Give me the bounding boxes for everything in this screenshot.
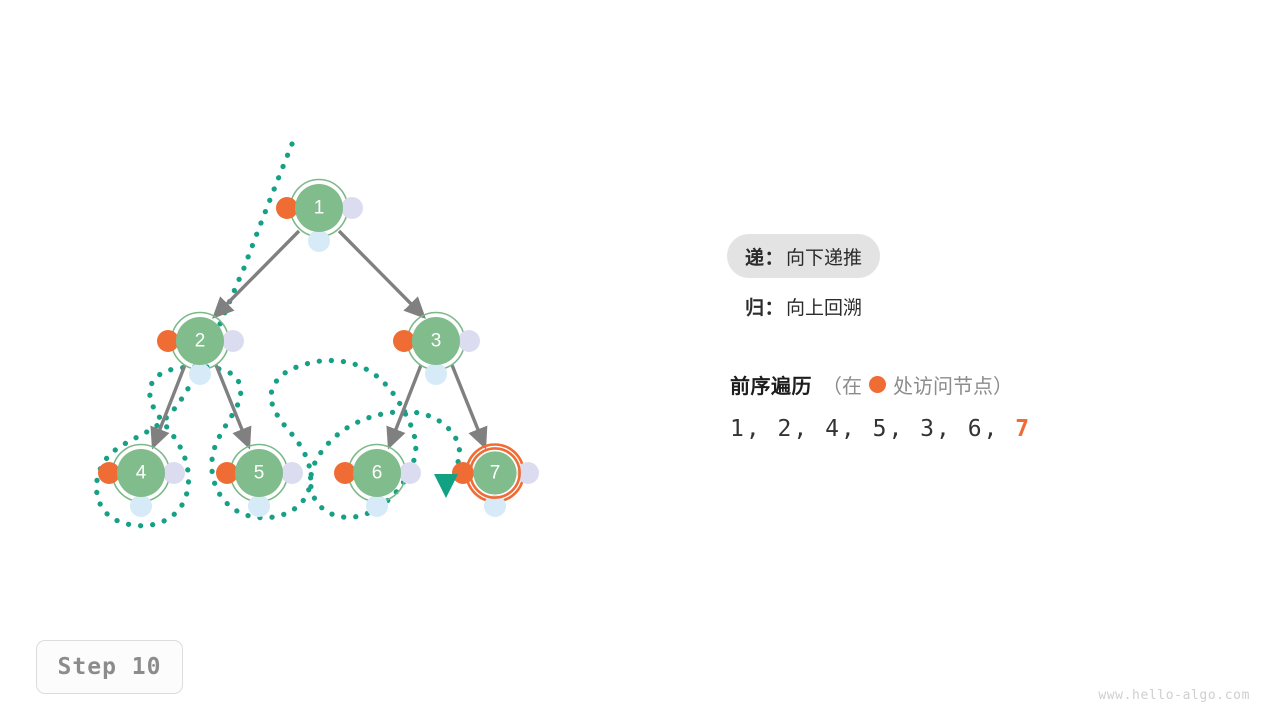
legend-recurse-label: 递：	[745, 243, 784, 270]
tree-node-4[interactable]: 4	[98, 445, 185, 518]
tree-node-3[interactable]: 3	[393, 313, 480, 386]
node-3-right-dot	[458, 330, 480, 352]
node-1-label: 1	[314, 198, 325, 219]
traversal-sequence: 1, 2, 4, 5, 3, 6, 7	[730, 416, 1227, 442]
node-6-right-dot	[399, 462, 421, 484]
edge-n3-n6	[389, 365, 421, 447]
tree-node-6[interactable]: 6	[334, 445, 421, 518]
step-badge: Step 10	[36, 640, 183, 694]
node-5-bottom-dot	[248, 495, 270, 517]
node-6-bottom-dot	[366, 495, 388, 517]
traversal-block: 前序遍历 （在 处访问节点） 1, 2, 4, 5, 3, 6, 7	[727, 370, 1227, 442]
node-4-visit-dot	[98, 462, 120, 484]
binary-tree-diagram: 1 2 3 4	[0, 0, 620, 600]
tree-node-7[interactable]: 7	[452, 445, 539, 518]
node-6-visit-dot	[334, 462, 356, 484]
node-2-visit-dot	[157, 330, 179, 352]
traversal-sequence-prefix: 1, 2, 4, 5, 3, 6,	[730, 416, 1015, 442]
node-6-label: 6	[372, 463, 383, 484]
node-1-right-dot	[341, 197, 363, 219]
legend-row-backtrack: 归： 向上回溯	[727, 284, 880, 328]
node-3-visit-dot	[393, 330, 415, 352]
legend-panel: 递： 向下递推 归： 向上回溯 前序遍历 （在 处访问节点） 1, 2, 4, …	[727, 234, 1227, 442]
edge-n1-n3	[339, 231, 424, 317]
node-1-bottom-dot	[308, 230, 330, 252]
pointer-triangle-icon	[434, 474, 458, 498]
node-4-right-dot	[163, 462, 185, 484]
current-node-pointer	[434, 474, 458, 498]
traversal-title: 前序遍历 （在 处访问节点）	[730, 370, 1227, 399]
traversal-name: 前序遍历	[730, 370, 812, 399]
node-5-label: 5	[254, 463, 265, 484]
legend-recurse-value: 向下递推	[786, 243, 862, 270]
node-3-bottom-dot	[425, 363, 447, 385]
legend-row-recurse: 递： 向下递推	[727, 234, 880, 278]
node-4-label: 4	[136, 463, 147, 484]
node-5-visit-dot	[216, 462, 238, 484]
node-4-bottom-dot	[130, 495, 152, 517]
edge-n3-n7	[452, 365, 485, 447]
node-2-label: 2	[195, 331, 206, 352]
traversal-note-prefix: （在	[822, 370, 862, 399]
legend-backtrack-label: 归：	[745, 293, 784, 320]
edge-n2-n4	[153, 365, 185, 447]
node-7-label: 7	[490, 463, 501, 484]
node-1-visit-dot	[276, 197, 298, 219]
visualization-canvas: 1 2 3 4	[0, 0, 1280, 720]
visit-marker-dot-icon	[869, 376, 886, 393]
watermark: www.hello-algo.com	[1098, 688, 1250, 703]
node-2-bottom-dot	[189, 363, 211, 385]
traversal-sequence-current: 7	[1015, 416, 1031, 442]
traversal-note-suffix: 处访问节点）	[893, 370, 1013, 399]
edge-n1-n2	[214, 231, 299, 317]
legend-backtrack-value: 向上回溯	[786, 293, 862, 320]
node-5-right-dot	[281, 462, 303, 484]
node-2-right-dot	[222, 330, 244, 352]
node-3-label: 3	[431, 331, 442, 352]
tree-node-5[interactable]: 5	[216, 445, 303, 518]
